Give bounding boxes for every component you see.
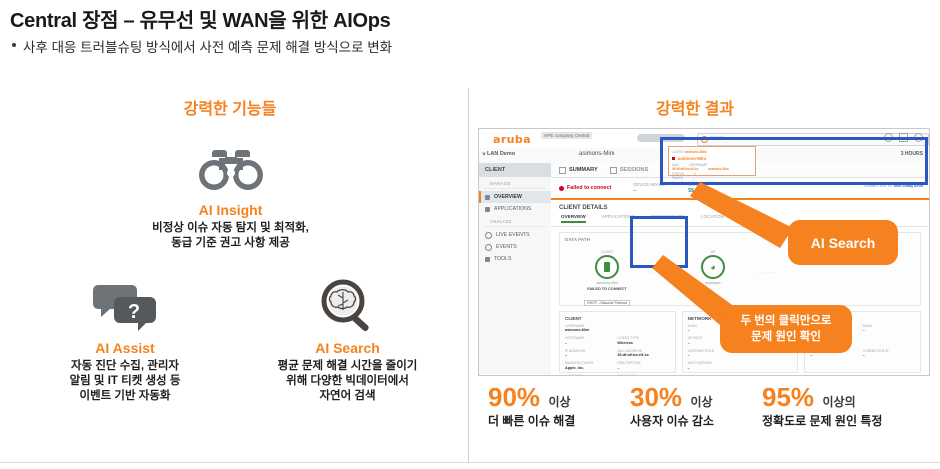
callout-ai-search: AI Search — [788, 220, 898, 265]
feature-ai-insight: AI Insight 비정상 이슈 자동 탐지 및 최적화, 동급 기준 권고 … — [128, 140, 333, 251]
sidebar-item-events[interactable]: EVENTS — [479, 241, 551, 253]
sidebar-item-live-events[interactable]: LIVE EVENTS — [479, 229, 551, 241]
stat-caption: 정확도로 문제 원인 특정 — [762, 412, 882, 429]
brain-magnifier-icon — [245, 278, 450, 336]
stat-suffix: 이상 — [691, 395, 713, 409]
field: DESCRIPTION– — [617, 361, 669, 370]
path-connector-1: ·······› — [650, 270, 669, 275]
tab-sessions[interactable]: SESSIONS — [610, 167, 649, 174]
field: USERNAMEasimons-Mini — [565, 324, 617, 333]
applications-icon — [485, 207, 490, 212]
node-name: employee — [690, 281, 736, 285]
subtab-overview[interactable]: OVERVIEW — [561, 214, 586, 223]
node-top-label: CLIENT — [584, 250, 630, 254]
path-connector-2: ·······› — [756, 270, 775, 275]
chat-question-icon: ? — [30, 278, 220, 336]
stat-item: 30% 이상 사용자 이슈 감소 — [630, 383, 714, 429]
field: MAC ADDRESS36:df:a9:ba:e5:1a — [617, 349, 669, 358]
bottom-divider — [0, 462, 940, 463]
subtab-rf[interactable]: RF — [740, 214, 746, 223]
stat-number: 95% — [762, 383, 814, 411]
tab-summary[interactable]: SUMMARY — [559, 167, 598, 174]
feature-ai-search: AI Search 평균 문제 해결 시간을 줄이기 위해 다양한 빅데이터에서… — [245, 278, 450, 404]
sidebar-item-label: EVENTS — [496, 244, 517, 250]
feature-title: AI Search — [245, 340, 450, 356]
field — [863, 336, 915, 345]
sidebar-item-label: TOOLS — [494, 256, 512, 262]
aruba-central-badge: HPE company Central — [541, 132, 592, 139]
node-name: asimons-Mini — [584, 281, 630, 285]
stat-number: 90% — [488, 383, 540, 411]
subtitle-row: 사후 대응 트러블슈팅 방식에서 사전 예측 문제 해결 방식으로 변화 — [12, 36, 392, 56]
field: MANUFACTURERApple, Inc. — [565, 361, 617, 370]
subtab-location[interactable]: LOCATION — [701, 214, 724, 223]
node-status: FAILED TO CONNECT — [584, 287, 630, 291]
feature-description: 평균 문제 해결 시간을 줄이기 위해 다양한 빅데이터에서 자연어 검색 — [245, 359, 450, 404]
page-title: Central 장점 – 유무선 및 WAN을 위한 AIOps — [10, 4, 390, 33]
error-icon — [559, 186, 564, 191]
sidebar-item-label: APPLICATIONS — [494, 206, 531, 212]
sidebar-item-label: OVERVIEW — [494, 194, 522, 200]
node-top-label: AP — [690, 250, 736, 254]
metric-value: – — [633, 188, 666, 195]
sidebar-item-applications[interactable]: APPLICATIONS — [479, 203, 551, 215]
stat-item: 90% 이상 더 빠른 이슈 해결 — [488, 383, 575, 429]
feature-description: 비정상 이슈 자동 탐지 및 최적화, 동급 기준 권고 사항 제공 — [128, 221, 333, 251]
wifi-ap-icon: ◕ — [701, 255, 725, 279]
node-tag: DHCP – Discover Timeout — [584, 300, 630, 306]
field: CLIENT TYPEWireless — [617, 336, 669, 345]
feature-ai-assist: ? AI Assist 자동 진단 수집, 관리자 알림 및 IT 티켓 생성 … — [30, 278, 220, 404]
status-label: Failed to connect — [567, 185, 611, 191]
detail-card-client: CLIENT USERNAMEasimons-Mini HOSTNAME– CL… — [559, 311, 676, 373]
bullet-icon — [12, 43, 16, 47]
left-section-heading: 강력한 기능들 — [160, 95, 300, 119]
slide-root: Central 장점 – 유무선 및 WAN을 위한 AIOps 사후 대응 트… — [0, 0, 940, 469]
sidebar-group-analyze: ANALYZE — [484, 215, 546, 227]
client-details-title: CLIENT DETAILS — [551, 200, 929, 214]
sidebar-item-overview[interactable]: OVERVIEW — [479, 191, 551, 203]
data-path-node-client[interactable]: CLIENT asimons-Mini FAILED TO CONNECT DH… — [584, 250, 630, 309]
screenshot-sidebar: CLIENT MANAGE OVERVIEW APPLICATIONS ANAL… — [479, 163, 552, 375]
field: HOSTNAME– — [565, 336, 617, 345]
stat-item: 95% 이상의 정확도로 문제 원인 특정 — [762, 383, 882, 429]
feature-title: AI Assist — [30, 340, 220, 356]
tools-icon — [485, 257, 490, 262]
tab-label: SUMMARY — [569, 167, 598, 173]
stat-suffix: 이상의 — [823, 395, 856, 409]
summary-icon — [559, 167, 566, 174]
aruba-logo: aruba — [493, 133, 531, 146]
highlight-box-search — [660, 137, 928, 185]
events-icon — [485, 244, 492, 251]
field: IP ADDRESS– — [565, 349, 617, 358]
field: DEVICE OSUnknown — [617, 374, 669, 376]
svg-text:?: ? — [128, 301, 140, 323]
tab-label: SESSIONS — [620, 167, 649, 173]
metric-value: 55 dB — [688, 188, 702, 195]
feature-title: AI Insight — [128, 202, 333, 218]
site-filter[interactable]: LAN Demo — [487, 151, 515, 157]
field: BAND– — [863, 324, 915, 333]
sidebar-group-manage: MANAGE — [484, 177, 546, 189]
field: LAST SEENNov 04, 2020, 17:4... — [565, 374, 617, 376]
data-path-title: DATA PATH — [565, 237, 590, 242]
stat-number: 30% — [630, 383, 682, 411]
highlight-box-client-node — [630, 216, 688, 268]
card-title: CLIENT — [565, 316, 670, 321]
status-badge: Failed to connect — [559, 185, 611, 191]
callout-two-clicks: 두 번의 클릭만으로 문제 원인 확인 — [720, 305, 852, 353]
sidebar-section-title: CLIENT — [479, 163, 551, 177]
page-subtitle: 사후 대응 트러블슈팅 방식에서 사전 예측 문제 해결 방식으로 변화 — [23, 36, 392, 56]
right-section-heading: 강력한 결과 — [625, 95, 765, 119]
field: CONNECTED AT– — [863, 349, 915, 358]
overview-icon — [485, 195, 490, 200]
sidebar-item-tools[interactable]: TOOLS — [479, 253, 551, 265]
data-path-node-ap[interactable]: AP ◕ employee — [690, 250, 736, 285]
stat-suffix: 이상 — [549, 395, 571, 409]
sessions-icon — [610, 167, 617, 174]
binoculars-icon — [128, 140, 333, 198]
sidebar-item-label: LIVE EVENTS — [496, 232, 529, 238]
vertical-divider — [468, 88, 469, 463]
stat-caption: 더 빠른 이슈 해결 — [488, 412, 575, 429]
client-device-icon — [595, 255, 619, 279]
field: AUTH SERVER– — [688, 361, 740, 370]
live-events-icon — [485, 232, 492, 239]
stat-caption: 사용자 이슈 감소 — [630, 412, 714, 429]
field — [617, 324, 669, 333]
feature-description: 자동 진단 수집, 관리자 알림 및 IT 티켓 생성 등 이벤트 기반 자동화 — [30, 359, 220, 404]
open-client-tab[interactable]: asimons-Mini — [579, 151, 614, 157]
